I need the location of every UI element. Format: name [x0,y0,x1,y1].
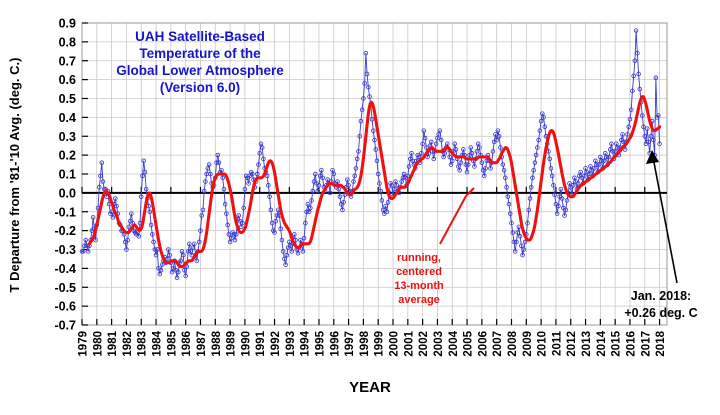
x-tick-label: 2009 [522,331,534,357]
x-tick-label: 1985 [166,330,178,356]
y-tick-label: -0.2 [54,224,76,238]
y-tick-label: 0.7 [59,54,76,68]
x-tick-label: 1998 [359,330,371,356]
x-tick-label: 1984 [152,330,164,356]
title-line-3: Global Lower Atmosphere [116,63,284,78]
latest-value-line-1: Jan. 2018: [631,289,691,303]
x-tick-label: 2015 [611,330,623,356]
y-axis-tick-labels: 0.90.80.70.60.50.40.30.20.10.0-0.1-0.2-0… [54,17,76,333]
title-line-2: Temperature of the [139,46,261,61]
x-tick-label: 1988 [211,330,223,356]
x-tick-label: 1999 [374,331,386,357]
y-tick-label: 0.4 [59,111,76,125]
latest-value-line-2: +0.26 deg. C [624,306,697,320]
x-tick-label: 1991 [255,330,267,356]
uah-temperature-chart: 0.90.80.70.60.50.40.30.20.10.0-0.1-0.2-0… [0,0,720,415]
x-tick-label: 2002 [418,331,430,357]
x-tick-label: 1993 [285,331,297,357]
x-tick-label: 1987 [196,331,208,357]
y-tick-label: 0.5 [59,92,76,106]
title-line-1: UAH Satellite-Based [135,29,265,44]
chart-canvas: 0.90.80.70.60.50.40.30.20.10.0-0.1-0.2-0… [0,0,720,415]
x-tick-label: 1995 [314,330,326,356]
x-tick-label: 2004 [448,330,460,356]
x-tick-label: 1981 [107,330,119,356]
x-tick-label: 1982 [122,331,134,357]
x-tick-label: 1979 [78,331,90,357]
x-tick-label: 1994 [300,330,312,356]
x-tick-label: 2013 [581,331,593,357]
x-tick-label: 2005 [463,330,475,356]
x-tick-label: 2018 [655,330,667,356]
y-tick-label: 0.1 [59,168,76,182]
y-tick-label: 0.3 [59,130,76,144]
y-tick-label: 0.6 [59,73,76,87]
x-tick-label: 1997 [344,331,356,357]
smoothing-note-line-1: running, [397,252,441,264]
x-tick-label: 1980 [92,331,104,357]
x-tick-label: 2014 [596,330,608,356]
x-tick-label: 2017 [640,331,652,357]
smoothing-note-line-2: centered [396,266,442,278]
x-tick-label: 1983 [137,331,149,357]
smoothing-note-line-4: average [398,294,440,306]
x-tick-label: 2012 [566,331,578,357]
y-tick-label: -0.1 [54,205,76,219]
x-axis-title: YEAR [349,379,391,396]
y-tick-label: 0.0 [59,186,76,200]
x-tick-label: 1989 [226,331,238,357]
x-tick-label: 2006 [477,331,489,357]
y-tick-label: -0.3 [54,243,76,257]
x-tick-label: 2007 [492,331,504,357]
x-tick-label: 2011 [551,330,563,356]
x-tick-label: 2008 [507,330,519,356]
x-tick-label: 2016 [625,331,637,357]
y-axis-title: T Departure from '81-'10 Avg. (deg. C.) [7,58,22,293]
y-tick-label: 0.8 [59,35,76,49]
y-tick-label: -0.4 [54,262,76,276]
x-tick-label: 1992 [270,331,282,357]
x-tick-label: 1990 [240,331,252,357]
x-tick-label: 2000 [389,331,401,357]
smoothing-note-line-3: 13-month [394,280,444,292]
y-tick-label: -0.5 [54,281,76,295]
y-tick-label: 0.2 [59,149,76,163]
x-tick-label: 2001 [403,330,415,356]
x-tick-label: 2003 [433,331,445,357]
y-tick-label: 0.9 [59,17,76,31]
x-tick-label: 1996 [329,331,341,357]
y-tick-label: -0.7 [54,319,76,333]
x-tick-label: 2010 [537,331,549,357]
x-tick-label: 1986 [181,331,193,357]
title-line-4: (Version 6.0) [160,80,240,95]
y-tick-label: -0.6 [54,300,76,314]
